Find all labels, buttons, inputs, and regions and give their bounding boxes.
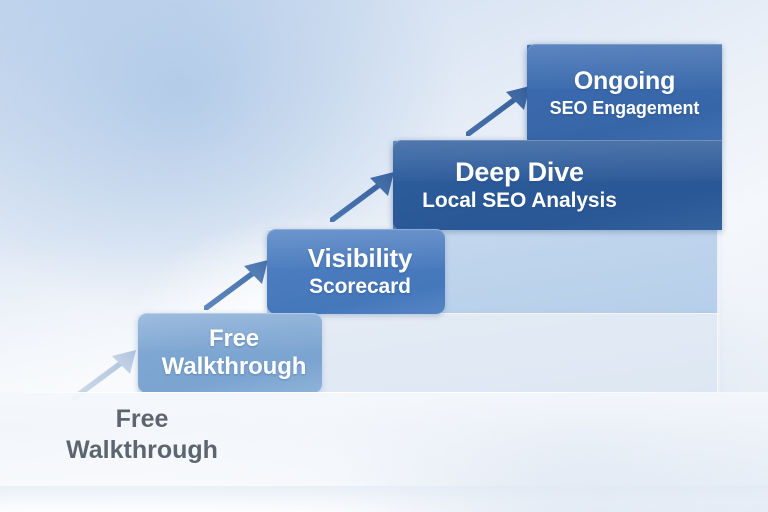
step-3-title: Deep Dive	[455, 157, 584, 187]
step-card-deep-dive[interactable]: Deep Dive Local SEO Analysis	[393, 140, 722, 230]
step-1-title: Free	[209, 326, 259, 353]
diagram-canvas: Ongoing SEO Engagement Deep Dive Local S…	[0, 0, 768, 512]
step-card-visibility[interactable]: Visibility Scorecard	[267, 229, 445, 314]
tread-edge-highlight-2	[717, 229, 721, 314]
step-4-subtitle: SEO Engagement	[550, 98, 700, 118]
step-card-free-walkthrough[interactable]: Free Walkthrough	[138, 313, 322, 393]
baseboard-band	[0, 486, 768, 512]
floor-edge-line	[0, 392, 768, 393]
step-2-title: Visibility	[308, 244, 412, 273]
step-2-subtitle: Scorecard	[309, 275, 411, 299]
ground-caption-free-walkthrough: Free Walkthrough	[42, 404, 242, 465]
step-1-subtitle: Walkthrough	[162, 354, 307, 381]
step-4-title: Ongoing	[574, 67, 675, 95]
step-card-ongoing[interactable]: Ongoing SEO Engagement	[527, 44, 722, 141]
ground-caption-line-2: Walkthrough	[42, 435, 242, 466]
ground-caption-line-1: Free	[116, 405, 169, 433]
tread-edge-highlight-1	[717, 313, 721, 393]
step-3-subtitle: Local SEO Analysis	[422, 189, 617, 213]
